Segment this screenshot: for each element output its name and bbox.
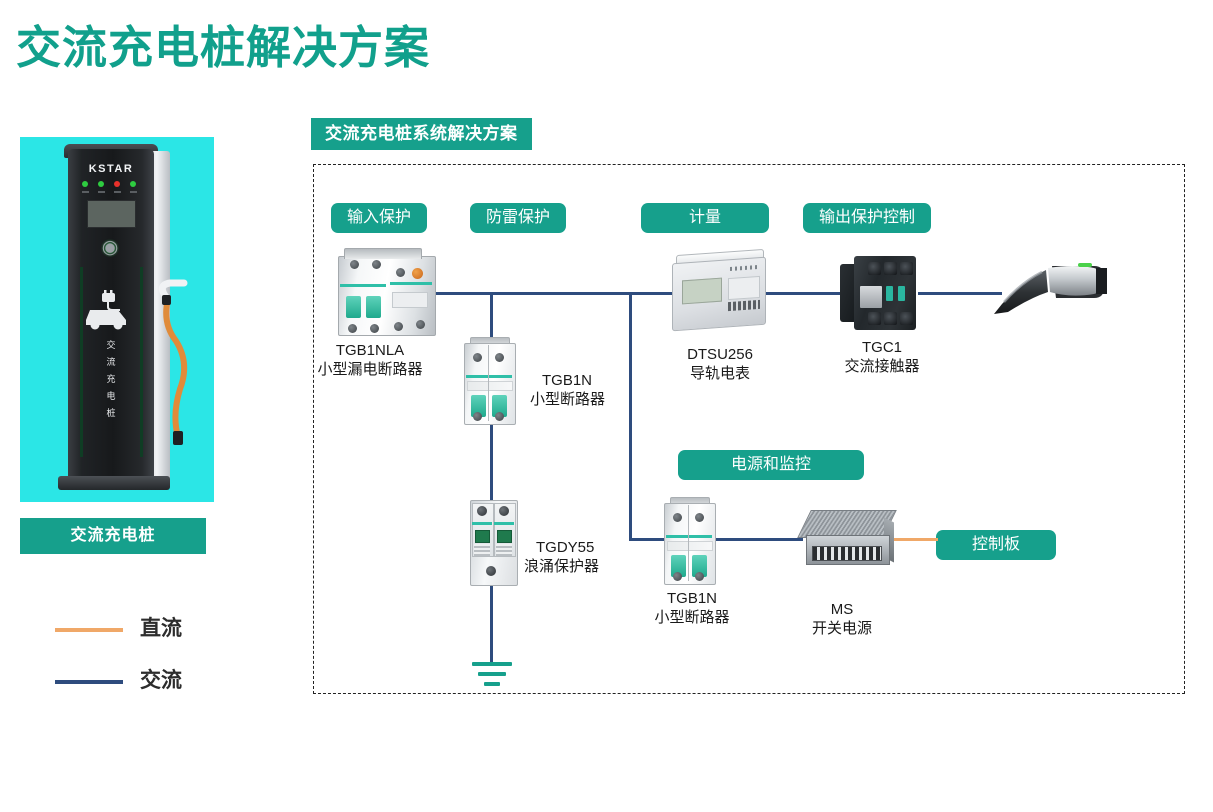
group-pill-control-board[interactable]: 控制板 — [936, 530, 1056, 560]
caption-psu-desc: 开关电源 — [752, 619, 932, 638]
group-pill-lightning-protection[interactable]: 防雷保护 — [470, 203, 566, 233]
group-pill-output-control[interactable]: 输出保护控制 — [803, 203, 931, 233]
ground-symbol-bar-2 — [478, 672, 506, 676]
led-label-1 — [82, 191, 89, 193]
legend-label-dc: 直流 — [140, 615, 182, 643]
device-meter-dtsu256 — [672, 250, 768, 334]
led-label-4 — [130, 191, 137, 193]
wire-ac-branch-vertical — [629, 292, 632, 540]
brand-logo: KSTAR — [68, 163, 154, 175]
group-pill-metering[interactable]: 计量 — [641, 203, 769, 233]
wifi-icon: ◉ — [94, 235, 126, 261]
section-banner: 交流充电桩系统解决方案 — [311, 118, 532, 150]
device-rcbo-tgb1nla — [338, 248, 442, 340]
ground-symbol-bar-1 — [472, 662, 512, 666]
wire-ac-spd-to-ground — [490, 585, 493, 663]
status-led-1 — [82, 181, 88, 187]
wire-ac-mcb-to-spd — [490, 425, 493, 503]
caption-meter-desc: 导轨电表 — [630, 364, 810, 383]
legend-line-ac — [55, 680, 123, 684]
pile-display-screen — [87, 200, 136, 228]
ground-symbol-bar-3 — [484, 682, 500, 686]
legend-label-ac: 交流 — [140, 667, 182, 695]
status-led-4 — [130, 181, 136, 187]
led-label-2 — [98, 191, 105, 193]
legend-item-dc: 直流 — [55, 615, 255, 643]
device-spd-tgdy55 — [470, 500, 518, 588]
caption-contactor-desc: 交流接触器 — [792, 357, 972, 376]
led-label-3 — [114, 191, 121, 193]
legend-item-ac: 交流 — [55, 667, 255, 695]
caption-mcb-upper-desc: 小型断路器 — [470, 390, 710, 409]
wire-ac-meter-to-contactor — [762, 292, 846, 295]
caption-rcbo-desc: 小型漏电断路器 — [280, 360, 460, 379]
wire-ac-mcb-to-psu — [713, 538, 803, 541]
caption-meter-model: DTSU256 — [630, 345, 810, 364]
caption-contactor-model: TGC1 — [792, 338, 972, 357]
product-photo: KSTAR ◉ 交流充电桩 — [20, 137, 214, 502]
group-pill-input-protection[interactable]: 输入保护 — [331, 203, 427, 233]
product-caption: 交流充电桩 — [20, 518, 206, 554]
group-pill-power-monitoring[interactable]: 电源和监控 — [678, 450, 864, 480]
legend-line-dc — [55, 628, 123, 632]
ev-charging-gun — [990, 258, 1108, 328]
caption-rcbo-model: TGB1NLA — [280, 341, 460, 360]
wire-ac-main-left — [408, 292, 674, 295]
device-contactor-tgc1 — [840, 252, 924, 336]
charging-cable — [154, 279, 196, 449]
pile-vertical-label: 交流充电桩 — [92, 337, 130, 422]
device-power-supply-ms — [800, 510, 896, 572]
device-mcb-tgb1n-lower — [664, 497, 720, 585]
status-led-2 — [98, 181, 104, 187]
charging-pile-base — [58, 476, 170, 490]
page-title: 交流充电桩解决方案 — [16, 22, 430, 74]
ev-charging-icon — [80, 290, 142, 332]
caption-psu-model: MS — [752, 600, 932, 619]
status-led-3 — [114, 181, 120, 187]
